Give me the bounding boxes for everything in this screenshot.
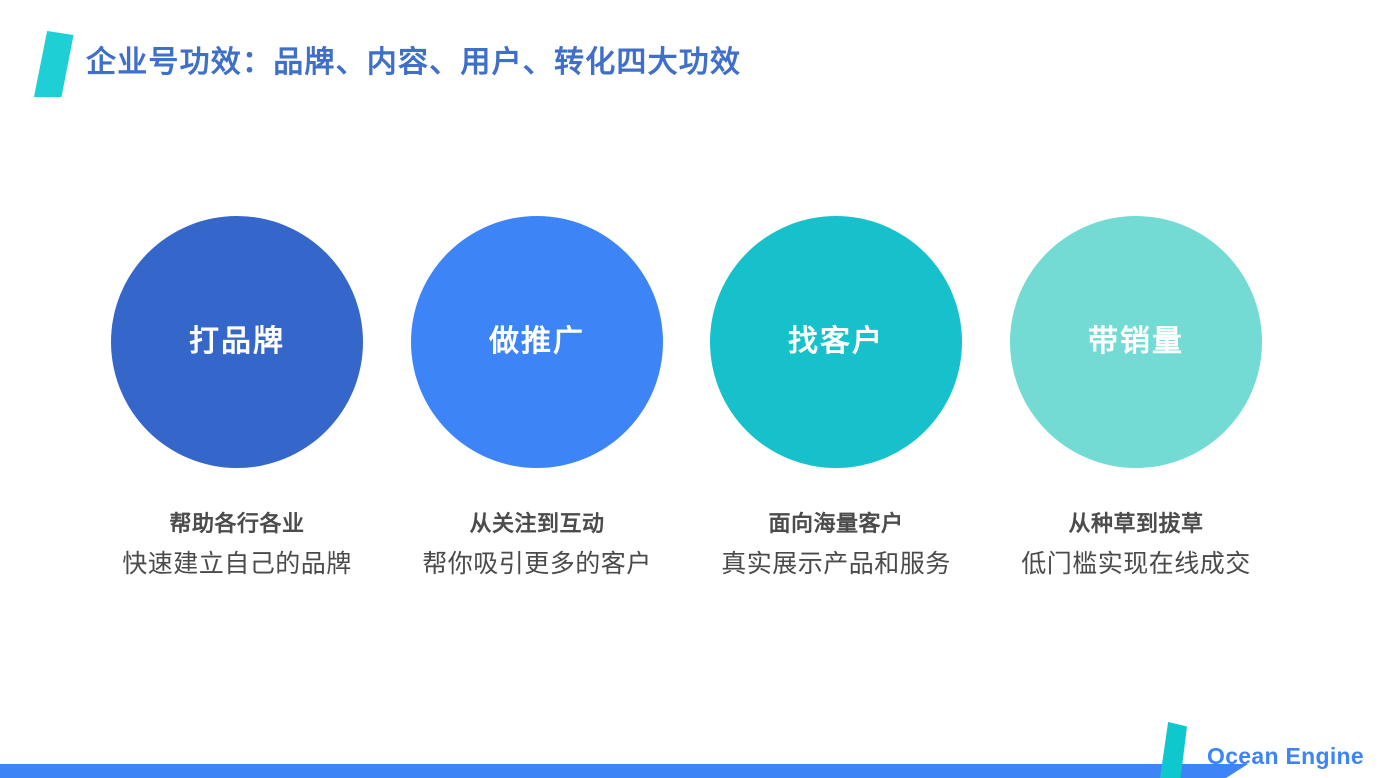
ocean-engine-blade-icon [1154,722,1198,778]
feature-circle-item[interactable]: 打品牌 [111,216,363,468]
feature-caption: 帮助各行各业 快速建立自己的品牌 [72,505,402,585]
feature-circle-sales[interactable]: 带销量 [1010,216,1262,468]
feature-circle-brand[interactable]: 打品牌 [111,216,363,468]
feature-circle-customers[interactable]: 找客户 [710,216,962,468]
feature-circle-item[interactable]: 找客户 [710,216,962,468]
feature-circle-label: 做推广 [489,327,585,357]
feature-caption-line2: 真实展示产品和服务 [671,543,1001,585]
feature-circle-label: 打品牌 [189,327,285,357]
feature-circle-promotion[interactable]: 做推广 [411,216,663,468]
feature-caption-line2: 帮你吸引更多的客户 [372,543,702,585]
feature-circle-item[interactable]: 带销量 [1010,216,1262,468]
feature-circle-row: 打品牌 做推广 找客户 带销量 [0,216,1380,468]
page-title: 企业号功效：品牌、内容、用户、转化四大功效 [86,48,741,80]
footer-accent-bar [0,764,1248,778]
brand-logo: Ocean Engine [1154,718,1364,778]
feature-caption: 从关注到互动 帮你吸引更多的客户 [372,505,702,585]
brand-wordmark: Ocean Engine [1207,745,1364,778]
feature-circle-label: 带销量 [1088,327,1184,357]
feature-caption: 从种草到拔草 低门槛实现在线成交 [971,505,1301,585]
feature-caption-line1: 从关注到互动 [372,505,702,543]
feature-caption-line1: 面向海量客户 [671,505,1001,543]
feature-caption-row: 帮助各行各业 快速建立自己的品牌 从关注到互动 帮你吸引更多的客户 面向海量客户… [0,505,1380,615]
feature-caption-line2: 快速建立自己的品牌 [72,543,402,585]
slide-canvas: 企业号功效：品牌、内容、用户、转化四大功效 打品牌 做推广 找客户 带销量 [0,0,1380,778]
feature-circle-label: 找客户 [788,327,884,357]
feature-caption: 面向海量客户 真实展示产品和服务 [671,505,1001,585]
slide-title-row: 企业号功效：品牌、内容、用户、转化四大功效 [38,28,741,100]
parallelogram-accent-icon [34,31,74,97]
feature-caption-line1: 从种草到拔草 [971,505,1301,543]
feature-caption-line1: 帮助各行各业 [72,505,402,543]
feature-caption-line2: 低门槛实现在线成交 [971,543,1301,585]
feature-circle-item[interactable]: 做推广 [411,216,663,468]
